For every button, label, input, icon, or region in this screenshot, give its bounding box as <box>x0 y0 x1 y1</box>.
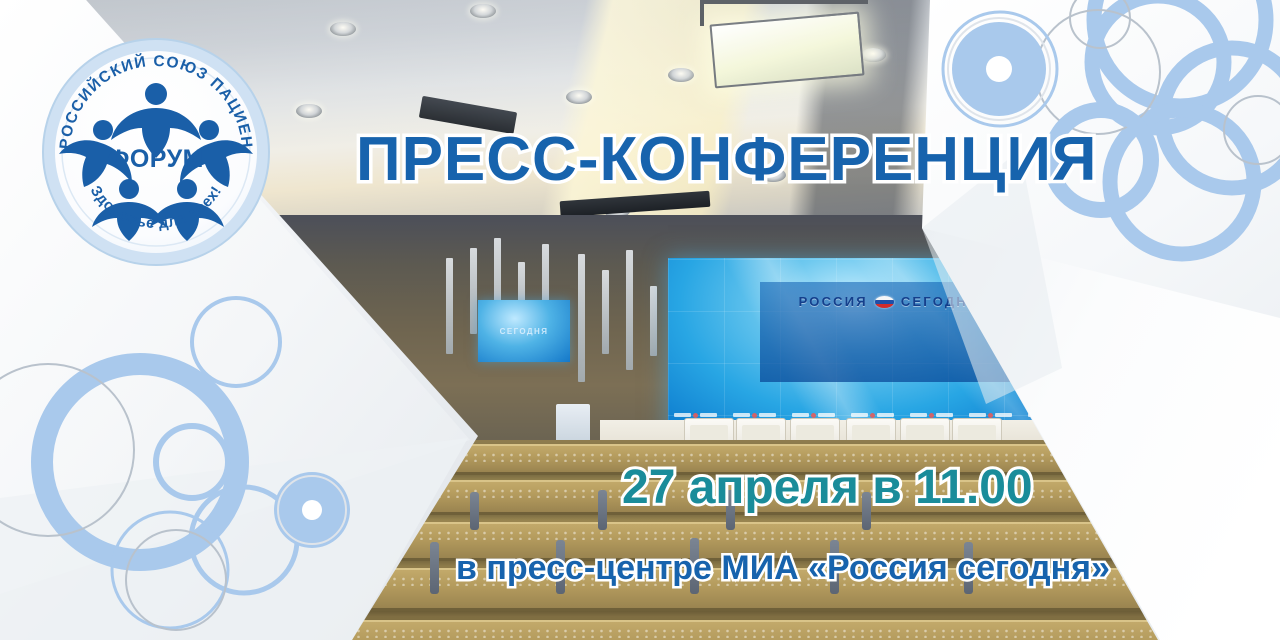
logo-center-word: ФОРУМ <box>108 145 204 173</box>
page-title: ПРЕСС-КОНФЕРЕНЦИЯ <box>356 124 1097 195</box>
poster-canvas: СЕГОДНЯ РОССИЯ СЕГОДНЯ <box>0 0 1280 640</box>
event-date-time: 27 апреля в 11.00 <box>622 460 1033 515</box>
event-venue: в пресс-центре МИА «Россия сегодня» <box>456 549 1110 588</box>
vsp-forum-logo: ФОРУМ ВСЕРОССИЙСКИЙ СОЮЗ ПАЦИЕНТОВ Здоро… <box>40 36 272 268</box>
